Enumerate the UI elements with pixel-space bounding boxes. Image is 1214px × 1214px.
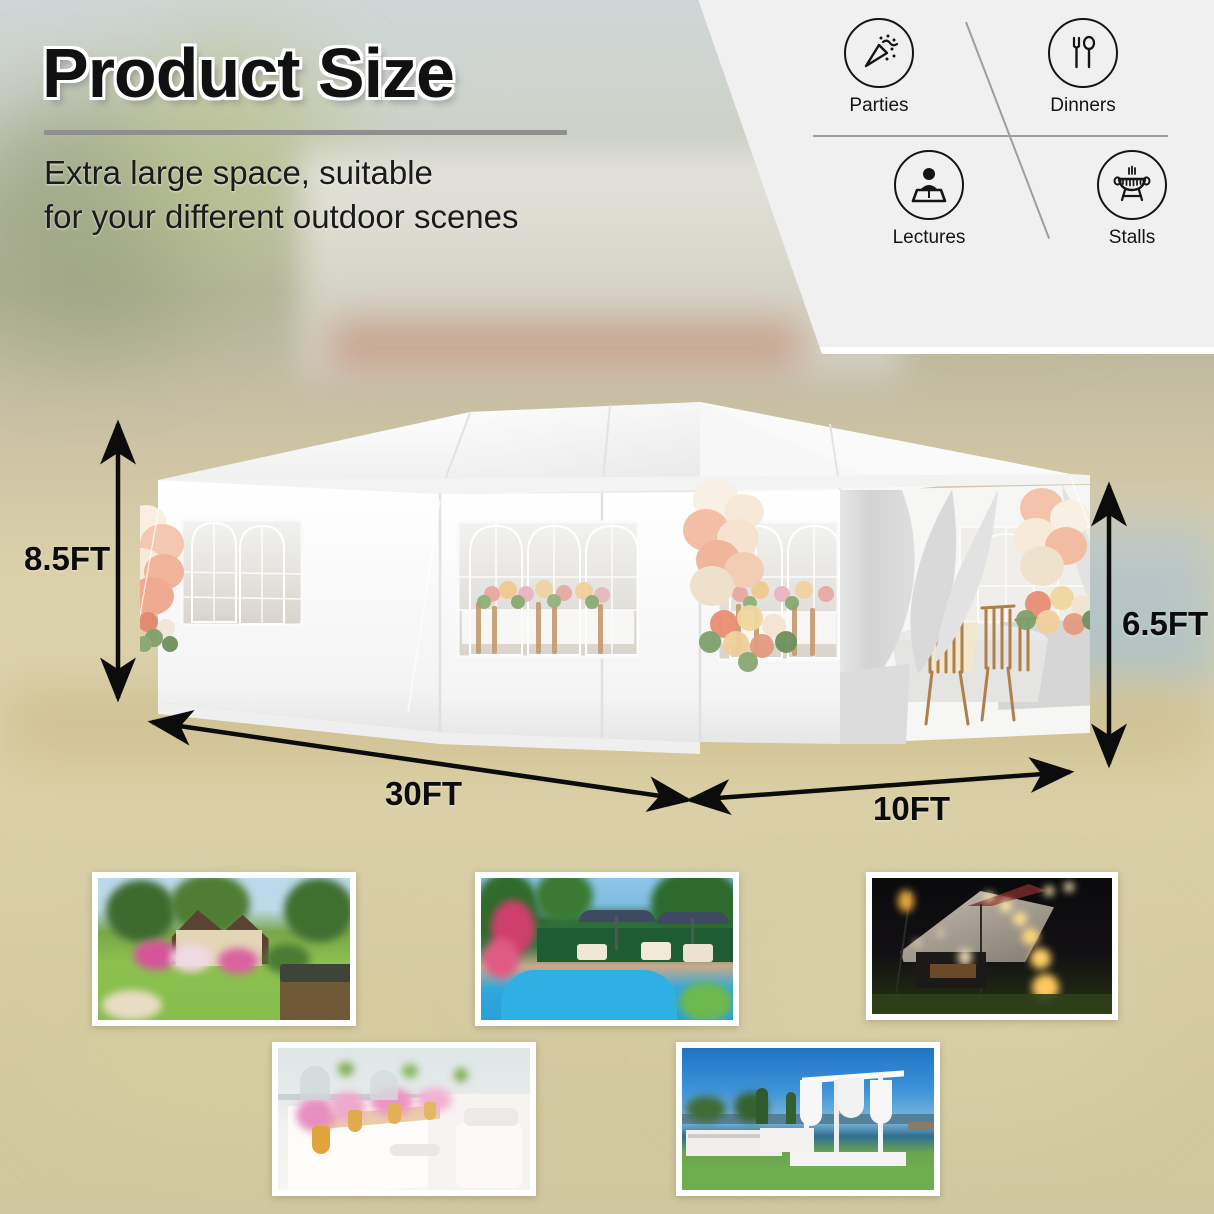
height-label-right: 6.5FT [1122, 605, 1208, 643]
pool-umbrellas-photo [481, 878, 733, 1020]
garden-house-photo [98, 878, 350, 1020]
length-label: 30FT [385, 775, 462, 813]
title-divider [44, 130, 567, 135]
list-item[interactable] [676, 1042, 940, 1196]
subtitle: Extra large space, suitable for your dif… [44, 151, 602, 239]
use-case-lectures[interactable]: Lectures [869, 150, 989, 249]
list-item[interactable] [272, 1042, 536, 1196]
list-item[interactable] [866, 872, 1118, 1020]
wedding-canopy-photo [682, 1048, 934, 1190]
use-case-parties[interactable]: Parties [819, 18, 939, 117]
width-label: 10FT [873, 790, 950, 828]
fork-spoon-icon [1048, 18, 1118, 88]
subtitle-line-2: for your different outdoor scenes [44, 195, 602, 239]
use-case-label: Dinners [1023, 95, 1143, 117]
panel-horizontal-divider [813, 135, 1168, 137]
use-case-stalls[interactable]: Stalls [1072, 150, 1192, 249]
list-item[interactable] [475, 872, 739, 1026]
lecturer-podium-icon [894, 150, 964, 220]
party-popper-icon [844, 18, 914, 88]
use-case-dinners[interactable]: Dinners [1023, 18, 1143, 117]
use-case-label: Parties [819, 95, 939, 117]
subtitle-line-1: Extra large space, suitable [44, 151, 602, 195]
product-tent-image [140, 372, 1090, 762]
height-label-left: 8.5FT [24, 540, 110, 578]
night-tent-photo [872, 878, 1112, 1014]
list-item[interactable] [92, 872, 356, 1026]
infographic-canvas: Product Size Extra large space, suitable… [0, 0, 1214, 1214]
banquet-table-photo [278, 1048, 530, 1190]
page-title: Product Size [42, 38, 602, 108]
use-cases-content: Parties Dinners [672, 0, 1214, 340]
bbq-grill-icon [1097, 150, 1167, 220]
use-case-label: Lectures [869, 227, 989, 249]
use-case-label: Stalls [1072, 227, 1192, 249]
title-block: Product Size Extra large space, suitable… [42, 38, 602, 239]
